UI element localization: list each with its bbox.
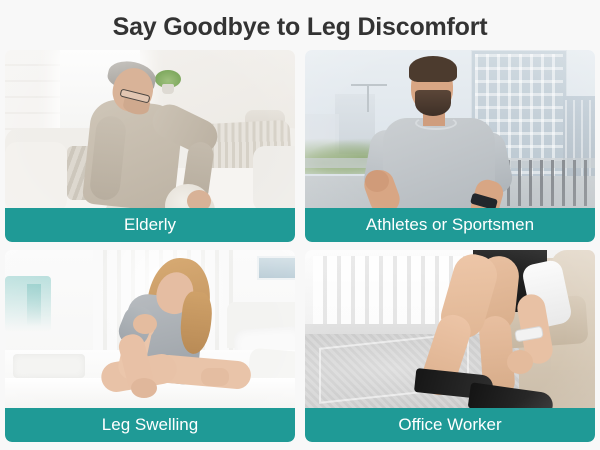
use-case-grid: Elderly: [5, 50, 595, 442]
promo-poster: Say Goodbye to Leg Discomfort: [0, 0, 600, 450]
use-case-card-elderly[interactable]: Elderly: [5, 50, 295, 242]
athlete-fist: [365, 170, 389, 192]
teal-accent-left-2: [27, 284, 41, 326]
woman-hand-ankle: [131, 378, 157, 398]
use-case-card-athletes[interactable]: Athletes or Sportsmen: [305, 50, 595, 242]
folded-towel: [13, 354, 85, 378]
woman-hand-knee: [133, 314, 157, 334]
crane-arm: [351, 84, 387, 86]
card-caption-athletes: Athletes or Sportsmen: [305, 208, 595, 242]
card-caption-leg-swelling: Leg Swelling: [5, 408, 295, 442]
sofa-arm-left: [5, 142, 67, 212]
athlete-hair: [409, 56, 457, 82]
sofa-arm-right: [253, 146, 295, 212]
use-case-card-office-worker[interactable]: Office Worker: [305, 250, 595, 442]
crane-mast: [367, 84, 369, 112]
athlete-beard: [415, 90, 451, 116]
page-title: Say Goodbye to Leg Discomfort: [0, 13, 600, 42]
woman-foot: [201, 368, 229, 386]
use-case-card-leg-swelling[interactable]: Leg Swelling: [5, 250, 295, 442]
wall-art: [257, 256, 295, 280]
plant-pot: [162, 84, 174, 94]
card-caption-elderly: Elderly: [5, 208, 295, 242]
card-caption-office-worker: Office Worker: [305, 408, 595, 442]
woman-hand: [507, 350, 533, 374]
